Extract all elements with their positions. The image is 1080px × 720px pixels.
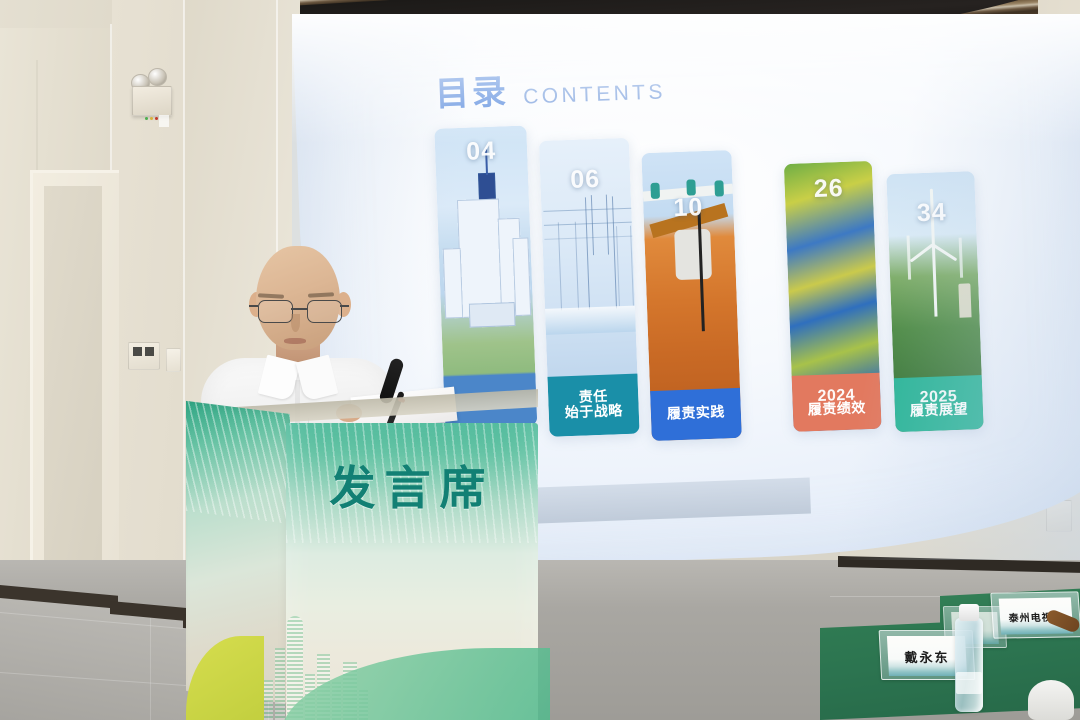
placard-name: 戴永东 xyxy=(904,647,950,666)
podium-label: 发言席 xyxy=(286,452,538,518)
emergency-light-icon xyxy=(126,62,172,116)
head xyxy=(256,246,340,350)
light-switch[interactable] xyxy=(166,348,181,372)
wall-control-panel[interactable] xyxy=(128,342,160,370)
water-bottle xyxy=(955,618,983,712)
conference-room-photo: 目录 CONTENTS 04 xyxy=(0,0,1080,720)
door-panel xyxy=(44,186,102,616)
tea-cup xyxy=(1028,680,1074,720)
bottle-cap xyxy=(959,604,979,621)
bottle-label xyxy=(956,672,982,694)
